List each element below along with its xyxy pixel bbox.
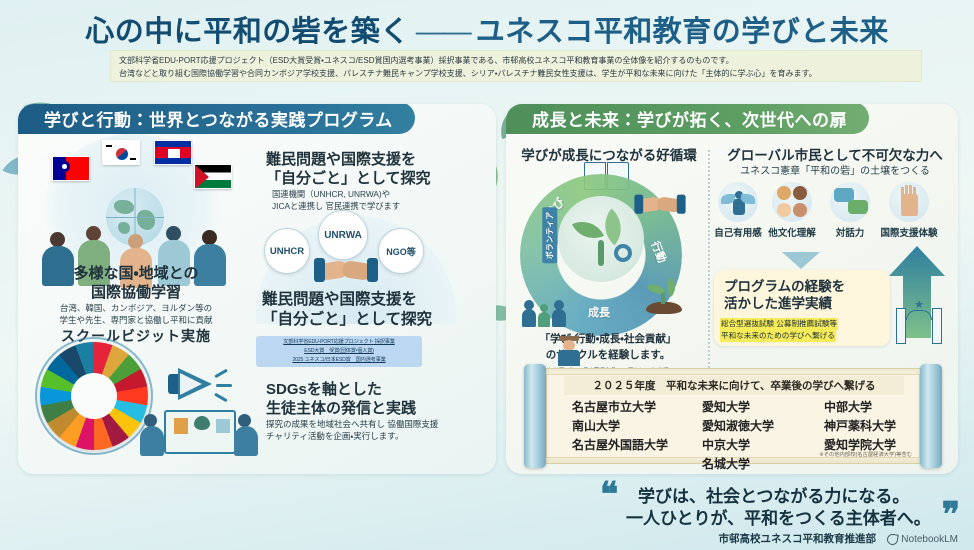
promo-heading-line2: 活かした進学実績: [724, 295, 845, 312]
down-arrow-icon: [782, 252, 820, 269]
cycle-caption: 「学び・行動・成長・社会貢献」 のサイクルを経験します。: [510, 332, 706, 364]
cycle-core-illustration: [558, 196, 644, 282]
partner-circle-unhcr: UNHCR: [264, 228, 310, 274]
page-title: 心の中に平和の砦を築く——ユネスコ平和教育の学びと未来: [0, 8, 974, 50]
header-description-line1: 文部科学省EDU-PORT応援プロジェクト（ESD大賞受賞・ユネスコ/ESD賞国…: [119, 54, 913, 67]
south-korea-flag-icon: [102, 140, 140, 165]
flags-sub-line1: 台湾、韓国、カンボジア、ヨルダン等の: [26, 302, 246, 314]
cycle-caption-line1: 「学び・行動・成長・社会貢献」: [510, 332, 706, 348]
jordan-flag-icon: [194, 164, 232, 189]
promo-heading: プログラムの経験を 活かした進学実績: [724, 278, 845, 313]
refugee-bottom-heading-line2: 「自分ごと」として探究: [262, 310, 432, 330]
title-dash: ——: [416, 16, 470, 48]
award-badge-line2: ESD大賞 受賞(団体賞・個人賞): [260, 347, 418, 356]
multicultural-icon: [772, 182, 812, 222]
university-gate-icon: ★: [894, 300, 944, 344]
sdgs-block-heading: SDGsを軸とした 生徒主体の発信と実践: [266, 380, 416, 418]
skill-label: 他文化理解: [768, 225, 816, 239]
promo-highlight-line1: 総合型選抜試験 公募制推薦試験等: [720, 318, 838, 330]
sdg-wheel-icon: [40, 342, 148, 450]
skills-heading: グローバル市民として不可欠な力へ: [716, 144, 954, 164]
taiwan-flag-icon: [52, 156, 90, 181]
refugee-top-heading-line2: 「自分ごと」として探究: [266, 169, 431, 188]
dialogue-icon: [830, 182, 870, 222]
flags-heading-line2: 国際協働学習: [30, 283, 242, 302]
scroll-title: ２０２５年度 平和な未来に向けて、卒業後の学びへ繋げる: [564, 376, 904, 395]
sdgs-sub-line2: チャリティ活動を企画・実行します。: [266, 430, 438, 442]
international-support-icon: [889, 182, 929, 222]
promo-highlight: 総合型選抜試験 公募制推薦試験等 平和な未来のための学びへ繋げる: [720, 318, 838, 342]
quote-close-mark: ❞: [942, 498, 960, 532]
refugee-bottom-heading: 難民問題や国際支援を 「自分ごと」として探究: [262, 290, 432, 330]
quote-line2: 一人ひとりが、平和をつくる主体者へ。: [626, 504, 931, 529]
sdgs-sub-line1: 探究の成果を地域社会へ共有し 協働国際支援: [266, 418, 438, 430]
university-item: 愛知大学: [702, 398, 774, 417]
flags-block-emphasis: スクールビジット実施: [26, 326, 246, 346]
refugee-top-sub-line1: 国連機関（UNHCR, UNRWA)や: [272, 188, 400, 200]
infographic-poster: 心の中に平和の砦を築く——ユネスコ平和教育の学びと未来 文部科学省EDU-POR…: [0, 0, 974, 550]
page-title-sub: ユネスコ平和教育の学びと未来: [476, 16, 889, 48]
sdgs-heading-line1: SDGsを軸とした: [266, 380, 416, 399]
flags-block-sub: 台湾、韓国、カンボジア、ヨルダン等の 学生や先生、専門家と協働し平和に貢献: [26, 302, 246, 327]
promo-highlight-line2: 平和な未来のための学びへ繋げる: [720, 330, 836, 342]
university-item: 名城大学: [702, 455, 774, 474]
university-item: 南山大学: [572, 417, 668, 436]
page-title-main: 心の中に平和の砦を築く: [85, 16, 410, 48]
cambodia-flag-icon: [154, 140, 192, 165]
left-panel-title: 学びと行動：世界とつながる実践プログラム: [18, 104, 415, 134]
skills-subheading: ユネスコ憲章「平和の砦」の土壌をつくる: [716, 162, 954, 177]
quote-attribution: 市邨高校ユネスコ平和教育推進部: [719, 531, 877, 546]
university-item: 愛知淑徳大学: [702, 417, 774, 436]
scroll-note: ※その他内部校(名古屋経済大学)等含む: [819, 450, 912, 458]
scroll-rod-left: [524, 364, 546, 468]
admissions-promo-box: プログラムの経験を 活かした進学実績 総合型選抜試験 公募制推薦試験等 平和な未…: [714, 270, 890, 346]
quote-open-mark: ❝: [600, 478, 618, 512]
header-description: 文部科学省EDU-PORT応援プロジェクト（ESD大賞受賞・ユネスコ/ESD賞国…: [110, 50, 922, 82]
self-efficacy-icon: [718, 182, 758, 222]
notebooklm-logo: NotebookLM: [887, 534, 958, 545]
flags-sub-line2: 学生や先生、専門家と協働し平和に貢献: [26, 314, 246, 326]
poster-header: 心の中に平和の砦を築く——ユネスコ平和教育の学びと未来 文部科学省EDU-POR…: [0, 0, 974, 92]
award-badge-line1: 文部科学省EDU-PORT応援プロジェクト 採択事業: [260, 338, 418, 347]
flags-block-heading: 多様な国・地域との 国際協働学習: [30, 264, 242, 302]
skill-multicultural: 他文化理解: [768, 182, 816, 239]
skill-dialogue: 対話力: [826, 182, 874, 239]
skill-label: 自己有用感: [714, 225, 762, 239]
graduate-illustration: [556, 336, 582, 366]
university-item: 神戸薬科大学: [824, 417, 896, 436]
skill-self-efficacy: 自己有用感: [714, 182, 762, 239]
university-column-3: 中部大学 神戸薬科大学 愛知学院大学: [824, 398, 896, 455]
notebooklm-mark-icon: [887, 533, 899, 545]
refugee-top-sub: 国連機関（UNHCR, UNRWA)や JICAと連携し 官民連携で学びます: [272, 188, 400, 212]
megaphone-icon: [168, 362, 232, 408]
scroll-rod-right: [920, 364, 942, 468]
sdgs-heading-line2: 生徒主体の発信と実践: [266, 399, 416, 418]
university-item: 中京大学: [702, 436, 774, 455]
handshake-icon: [638, 193, 683, 217]
refugee-bottom-heading-line1: 難民問題や国際支援を: [262, 290, 432, 310]
university-column-1: 名古屋市立大学 南山大学 名古屋外国語大学: [572, 398, 668, 455]
panel-divider: [708, 150, 710, 380]
header-description-line2: 台湾などと取り組む国際協働学習や合同カンボジア学校支援、パレスチナ難民キャンプ学…: [119, 67, 913, 80]
presentation-board-icon: [164, 410, 236, 454]
university-scroll: ２０２５年度 平和な未来に向けて、卒業後の学びへ繋げる 名古屋市立大学 南山大学…: [524, 364, 942, 468]
flags-heading-line1: 多様な国・地域との: [30, 264, 242, 283]
handshake-icon: [318, 256, 374, 286]
partner-circle-unrwa: UNRWA: [318, 210, 368, 260]
closing-quote: ❝ 学びは、社会とつながる力になる。 一人ひとりが、平和をつくる主体者へ。 ❞ …: [600, 478, 960, 546]
award-badge-line3: 2025 ユネスコ/日本ESD賞 国内選考事業: [260, 356, 418, 365]
left-panel: 学びと行動：世界とつながる実践プログラム: [18, 104, 496, 474]
promo-heading-line1: プログラムの経験を: [724, 278, 845, 295]
university-column-2: 愛知大学 愛知淑徳大学 中京大学 名城大学: [702, 398, 774, 474]
cycle-caption-line2: のサイクルを経験します。: [510, 348, 706, 364]
university-item: 中部大学: [824, 398, 896, 417]
sdgs-block-sub: 探究の成果を地域社会へ共有し 協働国際支援 チャリティ活動を企画・実行します。: [266, 418, 438, 443]
cycle-label-volunteer: ボランティア: [542, 208, 557, 264]
sprout-icon: [646, 282, 682, 314]
award-badge: 文部科学省EDU-PORT応援プロジェクト 採択事業 ESD大賞 受賞(団体賞・…: [256, 336, 422, 367]
university-item: 名古屋市立大学: [572, 398, 668, 417]
partner-circle-ngo: NGO等: [378, 228, 424, 274]
cycle-heading: 学びが成長につながる好循環: [514, 144, 704, 164]
refugee-top-heading: 難民問題や国際支援を 「自分ごと」として探究: [266, 150, 431, 188]
cycle-label-seicho: 成長: [588, 304, 610, 320]
university-item: 名古屋外国語大学: [572, 436, 668, 455]
skill-international-support: 国際支援体験: [878, 182, 940, 239]
skill-label: 対話力: [826, 225, 874, 239]
notebooklm-label: NotebookLM: [901, 534, 958, 545]
right-panel-title: 成長と未来：学びが拓く、次世代への扉: [506, 104, 869, 134]
refugee-top-heading-line1: 難民問題や国際支援を: [266, 150, 431, 169]
skill-label: 国際支援体験: [878, 225, 940, 239]
